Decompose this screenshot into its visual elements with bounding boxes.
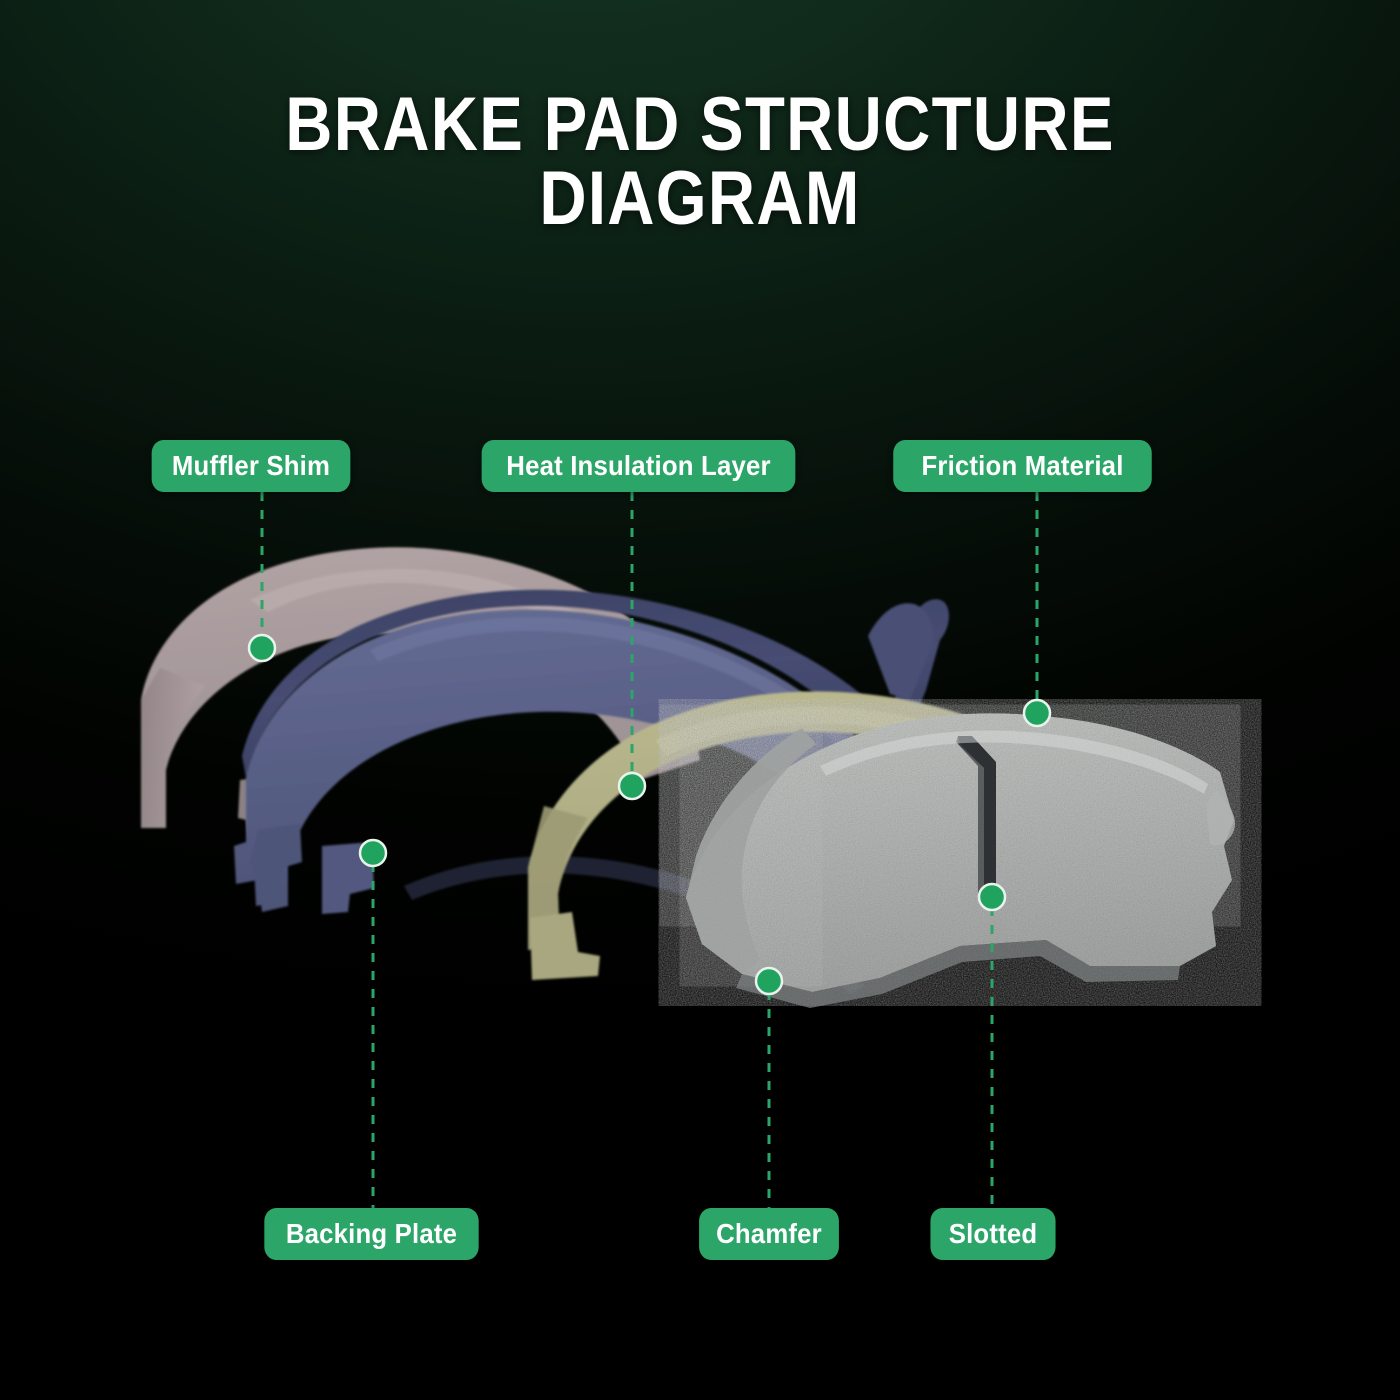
label-chip-slotted[interactable]: Slotted [930, 1208, 1055, 1260]
label-chip-muffler-shim[interactable]: Muffler Shim [152, 440, 351, 492]
label-chip-text: Chamfer [716, 1218, 822, 1250]
label-chip-text: Heat Insulation Layer [506, 450, 770, 482]
part-friction-material [686, 713, 1235, 1008]
label-chip-heat-insulation-layer[interactable]: Heat Insulation Layer [482, 440, 796, 492]
label-chip-text: Muffler Shim [172, 450, 330, 482]
label-chip-text: Backing Plate [286, 1218, 457, 1250]
diagram-canvas: BRAKE PAD STRUCTURE DIAGRAM [0, 0, 1400, 1400]
label-chip-backing-plate[interactable]: Backing Plate [264, 1208, 478, 1260]
label-chip-friction-material[interactable]: Friction Material [893, 440, 1152, 492]
label-chip-text: Slotted [949, 1218, 1038, 1250]
label-chip-chamfer[interactable]: Chamfer [699, 1208, 839, 1260]
brake-pad-illustration [0, 0, 1400, 1400]
label-chip-text: Friction Material [921, 450, 1123, 482]
